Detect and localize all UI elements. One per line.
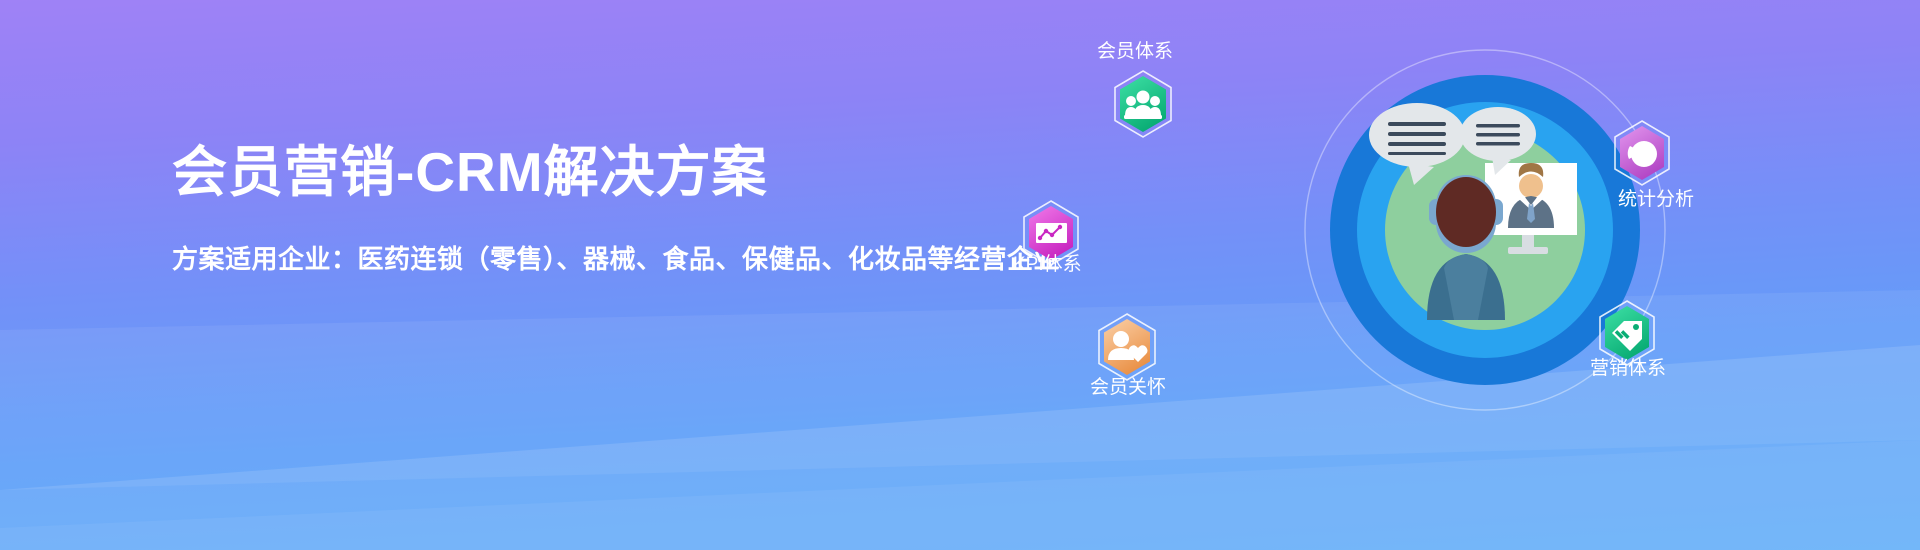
- headline-block: 会员营销-CRM解决方案 方案适用企业：医药连锁（零售）、器械、食品、保健品、化…: [172, 140, 1052, 277]
- hexagon-body: [1120, 76, 1166, 132]
- node-label-marketing: 营销体系: [1590, 359, 1666, 378]
- line-chart-icon: [1036, 223, 1067, 243]
- node-label-member-system: 会员体系: [1097, 42, 1173, 61]
- agent-head: [1436, 177, 1496, 247]
- monitor-stand-base: [1508, 247, 1548, 254]
- crm-diagram: [1230, 0, 1790, 550]
- node-label-care: 会员关怀: [1090, 378, 1166, 397]
- node-label-stats: 统计分析: [1618, 190, 1694, 209]
- page-subtitle: 方案适用企业：医药连锁（零售）、器械、食品、保健品、化妆品等经营企业: [172, 205, 1052, 277]
- node-stats[interactable]: [1613, 120, 1671, 191]
- page-title: 会员营销-CRM解决方案: [172, 140, 1052, 205]
- node-care[interactable]: [1097, 313, 1157, 386]
- monitor-stand-neck: [1522, 235, 1534, 249]
- node-label-kpi: KPI体系: [1013, 255, 1082, 274]
- node-member-system[interactable]: [1113, 70, 1173, 143]
- crm-marketing-banner: 会员营销-CRM解决方案 方案适用企业：医药连锁（零售）、器械、食品、保健品、化…: [0, 0, 1920, 550]
